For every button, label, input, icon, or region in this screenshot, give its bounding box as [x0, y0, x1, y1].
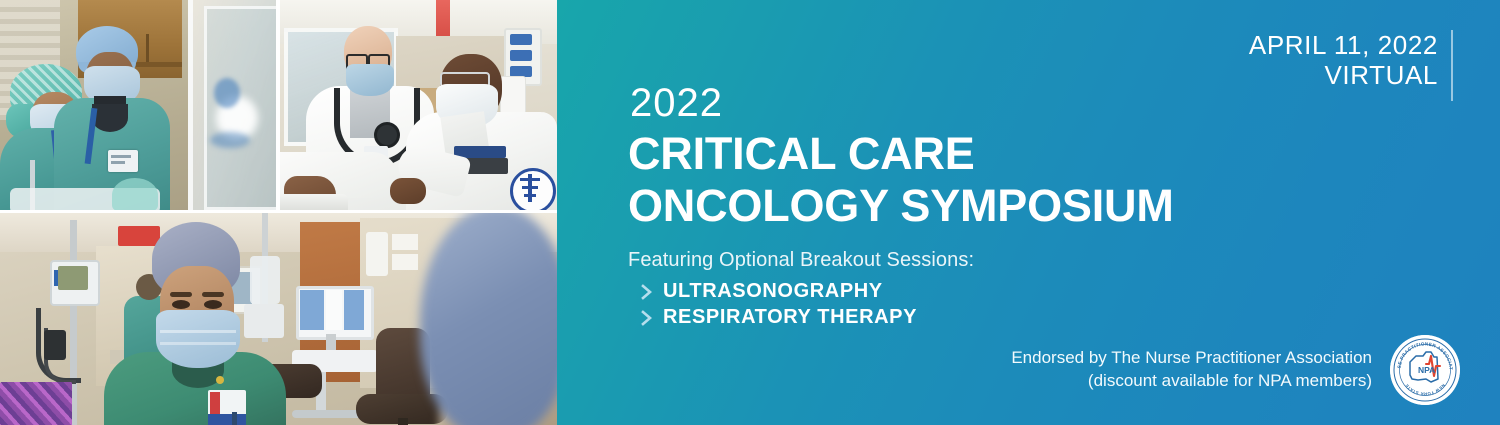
logo-mark: [520, 178, 540, 181]
event-headline: 2022 CRITICAL CARE ONCOLOGY SYMPOSIUM: [628, 83, 1174, 232]
cart-base: [292, 410, 366, 418]
badge-text-line: [111, 161, 125, 164]
nurse-pin: [216, 376, 224, 384]
exit-sign: [118, 226, 160, 246]
monitor-screen: [58, 266, 88, 290]
nurse-eye: [172, 300, 190, 309]
cabinet-handle: [146, 34, 149, 64]
dispenser-label: [510, 50, 532, 61]
photo-nurse-icu: [0, 212, 557, 425]
monitor-indicators: [54, 270, 58, 286]
breakout-item-ultrasonography: ULTRASONOGRAPHY: [640, 280, 974, 303]
office-chair-base: [398, 418, 408, 425]
chevron-right-icon: [640, 283, 654, 301]
breakout-sessions: Featuring Optional Breakout Sessions: UL…: [628, 249, 974, 332]
dispenser-label: [510, 34, 532, 45]
svg-text:NPA: NPA: [1418, 365, 1435, 375]
mask-fold: [160, 342, 236, 345]
infusion-pump: [244, 304, 284, 338]
hospital-logo-patch: [510, 168, 556, 212]
endorsement-line-2: (discount available for NPA members): [1011, 370, 1372, 392]
endorsement-line-1: Endorsed by The Nurse Practitioner Assoc…: [1011, 347, 1372, 369]
event-format: VIRTUAL: [1249, 61, 1438, 91]
npa-seal-logo: NURSE PRACTITIONER ASSOCIATION NEW YORK …: [1390, 335, 1460, 405]
wall-sign: [392, 254, 418, 270]
breakout-item-respiratory-therapy: RESPIRATORY THERAPY: [640, 306, 974, 329]
photo-content: [278, 0, 557, 212]
banner-text-panel: APRIL 11, 2022 VIRTUAL 2022 CRITICAL CAR…: [557, 0, 1500, 425]
event-year: 2022: [630, 83, 1174, 123]
chevron-right-icon: [640, 309, 654, 327]
event-title-line-2: ONCOLOGY SYMPOSIUM: [628, 180, 1174, 232]
glass-reflection: [214, 78, 240, 108]
nurse-face-mask: [156, 310, 240, 368]
endorsement-text: Endorsed by The Nurse Practitioner Assoc…: [1011, 347, 1372, 392]
badge-stripe: [210, 392, 220, 414]
photo-two-clinicians-teal-scrubs: [0, 0, 278, 212]
breakout-label: RESPIRATORY THERAPY: [663, 306, 917, 329]
photo-two-physicians-white-coats: [278, 0, 557, 212]
date-divider-line: [1451, 30, 1453, 101]
photo-content: [0, 0, 278, 212]
mask-fold: [160, 330, 236, 333]
glass-reflection: [210, 132, 250, 148]
hand-sanitizer-dispenser: [500, 76, 526, 114]
stethoscope-chestpiece: [374, 122, 400, 148]
badge-role-label: [208, 414, 246, 425]
monitor-edge: [278, 194, 348, 212]
badge-text-line: [111, 155, 131, 158]
display-screen: [0, 382, 72, 425]
medical-tubing: [112, 178, 158, 212]
nurse-eyebrow: [170, 292, 192, 297]
monitor-module: [44, 330, 66, 360]
photo-content: [0, 212, 557, 425]
physician-hand: [390, 178, 426, 204]
nurse-eye: [204, 300, 222, 309]
nurse-eyebrow: [202, 292, 224, 297]
event-date: APRIL 11, 2022: [1249, 31, 1438, 61]
photo-collage: [0, 0, 557, 425]
event-title-line-1: CRITICAL CARE: [628, 128, 1174, 180]
iv-bag: [250, 256, 280, 304]
foreground-person-head: [420, 212, 557, 425]
wall-sign: [392, 234, 418, 250]
wall-dispenser: [366, 232, 388, 276]
logo-mark: [522, 186, 538, 189]
logo-mark: [524, 194, 536, 197]
monitor-screen-panel: [300, 290, 324, 330]
breakout-label: ULTRASONOGRAPHY: [663, 280, 883, 303]
badge-lanyard: [232, 412, 237, 425]
critical-care-oncology-symposium-banner: APRIL 11, 2022 VIRTUAL 2022 CRITICAL CAR…: [0, 0, 1500, 425]
breakout-intro-text: Featuring Optional Breakout Sessions:: [628, 249, 974, 272]
monitor-screen-panel: [326, 290, 342, 330]
event-date-block: APRIL 11, 2022 VIRTUAL: [1249, 31, 1438, 90]
monitor-screen-panel: [344, 290, 364, 330]
